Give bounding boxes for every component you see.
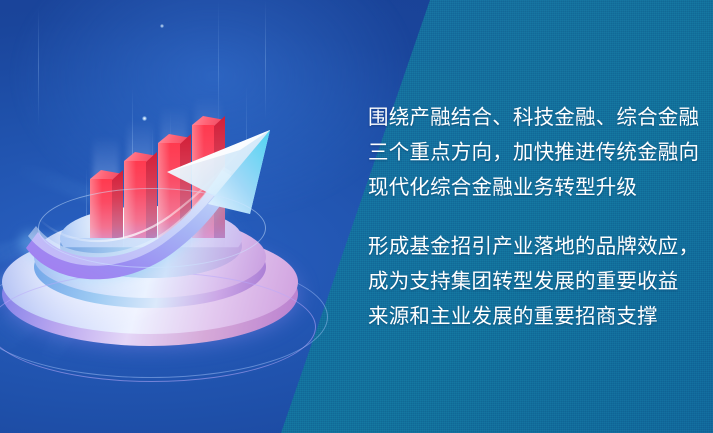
banner-canvas: 围绕产融结合、科技金融、综合金融 三个重点方向，加快推进传统金融向 现代化综合金… (0, 0, 713, 433)
paragraph-1-line-2: 三个重点方向，加快推进传统金融向 (368, 135, 688, 170)
growth-chart-illustration (8, 96, 308, 346)
paragraph-1: 围绕产融结合、科技金融、综合金融 三个重点方向，加快推进传统金融向 现代化综合金… (368, 100, 688, 205)
copy-block: 围绕产融结合、科技金融、综合金融 三个重点方向，加快推进传统金融向 现代化综合金… (368, 100, 688, 334)
paragraph-2-line-1: 形成基金招引产业落地的品牌效应， (368, 229, 688, 264)
platform-ring-inner (38, 188, 266, 268)
paragraph-1-line-3: 现代化综合金融业务转型升级 (368, 170, 688, 205)
paragraph-2: 形成基金招引产业落地的品牌效应， 成为支持集团转型发展的重要收益 来源和主业发展… (368, 229, 688, 334)
paragraph-1-line-1: 围绕产融结合、科技金融、综合金融 (368, 100, 688, 135)
paragraph-2-line-2: 成为支持集团转型发展的重要收益 (368, 264, 688, 299)
paragraph-2-line-3: 来源和主业发展的重要招商支撑 (368, 299, 688, 334)
